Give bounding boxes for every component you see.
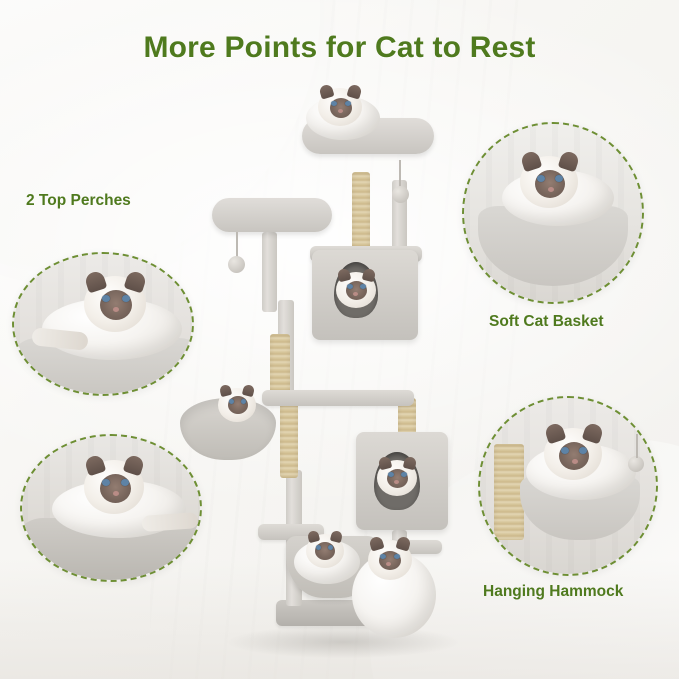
- callout-cat-eye-left: [561, 447, 569, 454]
- callout-cat-eye-left: [102, 295, 110, 302]
- floor-shadow: [228, 626, 458, 658]
- callout-cat-eye-right: [122, 295, 130, 302]
- toy-string-in-photo: [636, 434, 638, 458]
- callout-circle-soft-basket: [462, 122, 644, 304]
- sisal-post-mid: [270, 334, 290, 394]
- post-upper: [262, 232, 277, 312]
- callout-cat-nose: [113, 491, 119, 496]
- cat-condo-eye-right: [360, 284, 366, 289]
- callout-photo-hanging-hammock: [480, 398, 656, 574]
- cat-hammock-eye-right: [328, 545, 333, 550]
- callout-cat-nose: [113, 307, 119, 312]
- callout-cat-eye-right: [579, 447, 587, 454]
- callout-photo-top-perch-1: [14, 254, 192, 394]
- callout-cat-eye-left: [102, 479, 110, 486]
- cat-lower-condo-eye-right: [401, 472, 407, 477]
- cat-bottom-nose: [386, 562, 391, 566]
- cat-bottom-eye-left: [380, 554, 386, 559]
- sisal-post-upper: [352, 172, 370, 254]
- callout-photo-soft-basket: [464, 124, 642, 302]
- callout-cat-nose: [572, 459, 578, 464]
- callout-circle-top-perch-2: [20, 434, 202, 582]
- cat-hammock-eye-left: [316, 545, 321, 550]
- callout-label-hanging-hammock: Hanging Hammock: [483, 583, 623, 601]
- callout-circle-top-perch-1: [12, 252, 194, 396]
- callout-cat-eye-left: [537, 175, 545, 182]
- product-infographic: More Points for Cat to Rest: [0, 0, 679, 679]
- cat-basket-eye-left: [229, 399, 234, 404]
- cat-lower-condo-eye-left: [388, 472, 394, 477]
- callout-circle-hanging-hammock: [478, 396, 658, 576]
- cat-top-nose: [338, 109, 343, 113]
- callout-photo-top-perch-2: [22, 436, 200, 580]
- cat-top-eye-left: [331, 101, 337, 106]
- platform-mid: [262, 390, 414, 406]
- pom-pom-toy-in-photo: [628, 456, 644, 472]
- pom-pom-toy-upper: [392, 186, 409, 203]
- callout-label-soft-basket: Soft Cat Basket: [489, 313, 604, 331]
- pom-pom-toy-left: [228, 256, 245, 273]
- second-perch: [212, 198, 332, 232]
- callout-cat-nose: [548, 187, 554, 192]
- cat-top-eye-right: [345, 101, 351, 106]
- cat-condo-nose: [353, 292, 358, 296]
- callout-cat-eye-right: [555, 175, 563, 182]
- cat-basket-eye-right: [241, 399, 246, 404]
- callout-label-top-perches: 2 Top Perches: [26, 192, 131, 210]
- cat-condo-eye-left: [347, 284, 353, 289]
- cat-lower-condo-nose: [394, 480, 399, 484]
- cat-bottom-eye-right: [394, 554, 400, 559]
- callout-cat-eye-right: [121, 479, 129, 486]
